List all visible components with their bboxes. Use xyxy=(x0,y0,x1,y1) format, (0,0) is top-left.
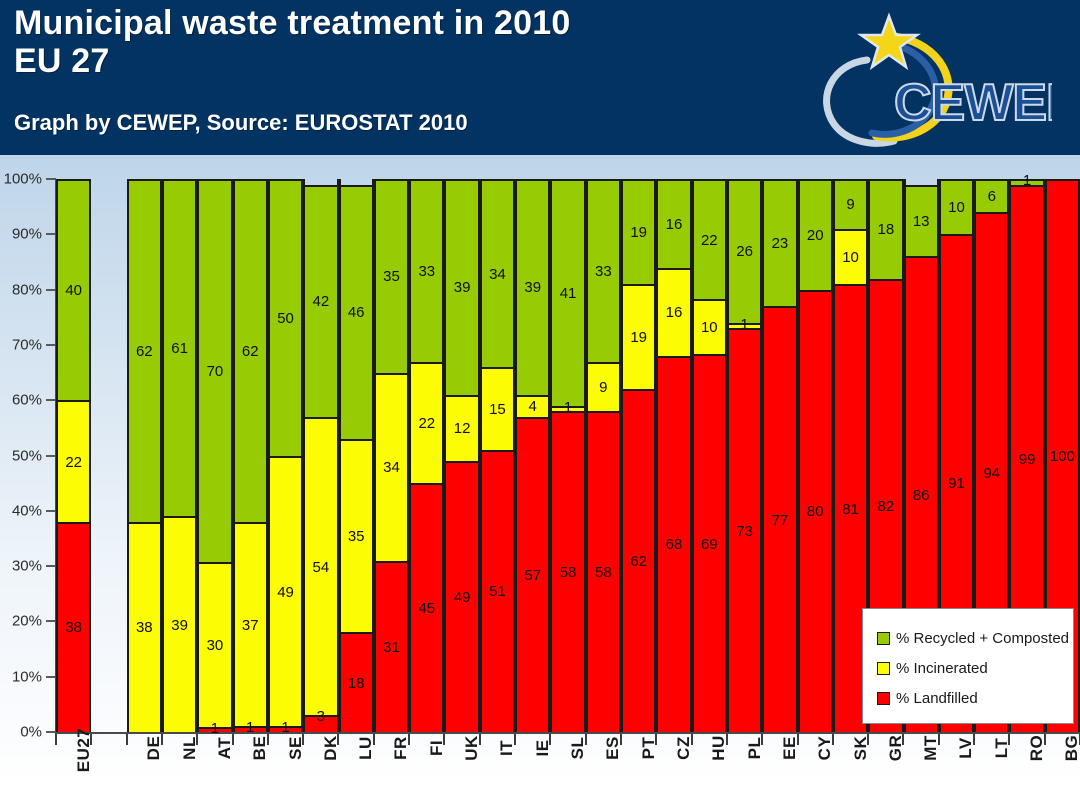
bar-value-label: 50 xyxy=(277,311,294,326)
bar-value-label: 91 xyxy=(948,476,965,491)
bar-value-label: 22 xyxy=(65,455,82,470)
bar-ES: 33958 xyxy=(586,179,621,732)
chart-area: 0%10%20%30%40%50%60%70%80%90%100% 402238… xyxy=(0,155,1080,784)
svg-text:CEWEP: CEWEP xyxy=(894,74,1052,132)
bar-segment-landfilled: 31 xyxy=(376,561,407,732)
y-axis-tick-label: 40% xyxy=(12,502,42,519)
bar-segment-landfilled: 18 xyxy=(341,632,372,732)
bar-segment-landfilled: 73 xyxy=(729,328,760,732)
bar-segment-incinerated: 19 xyxy=(623,284,654,389)
bar-segment-incinerated: 9 xyxy=(588,362,619,412)
bar-value-label: 22 xyxy=(418,416,435,431)
bar-value-label: 68 xyxy=(666,537,683,552)
bar-segment-landfilled: 80 xyxy=(800,290,831,732)
page-title: Municipal waste treatment in 2010 EU 27 xyxy=(14,4,570,80)
bar-value-label: 34 xyxy=(489,267,506,282)
bar-value-label: 19 xyxy=(630,330,647,345)
x-axis-label-FR: FR xyxy=(374,746,409,806)
bar-value-label: 99 xyxy=(1019,452,1036,467)
bar-value-label: 18 xyxy=(878,222,895,237)
bar-segment-recycled: 46 xyxy=(341,185,372,439)
x-axis-label-CZ: CZ xyxy=(656,746,691,806)
bar-value-label: 33 xyxy=(595,264,612,279)
bar-segment-recycled: 23 xyxy=(764,179,795,306)
bar-BE: 62371 xyxy=(233,179,268,732)
bar-value-label: 51 xyxy=(489,584,506,599)
bar-value-label: 39 xyxy=(171,618,188,633)
y-axis-tick-label: 30% xyxy=(12,558,42,575)
bar-value-label: 15 xyxy=(489,402,506,417)
bar-PL: 26173 xyxy=(727,179,762,732)
bar-value-label: 10 xyxy=(842,250,859,265)
stacked-bar: 463518 xyxy=(339,179,374,732)
bar-value-label: 9 xyxy=(599,380,607,395)
stacked-bar: 62371 xyxy=(233,179,268,732)
bar-segment-recycled: 70 xyxy=(199,179,230,562)
x-axis-label-EE: EE xyxy=(762,746,797,806)
legend-swatch-incinerated-icon xyxy=(877,662,890,675)
stacked-bar: 70301 xyxy=(197,179,232,732)
bar-segment-recycled: 35 xyxy=(376,179,407,373)
x-axis-label-DK: DK xyxy=(303,746,338,806)
bar-segment-incinerated: 22 xyxy=(411,362,442,484)
bar-segment-recycled: 10 xyxy=(941,179,972,234)
bar-EE: 23077 xyxy=(762,179,797,732)
bar-FR: 353431 xyxy=(374,179,409,732)
bar-segment-recycled: 9 xyxy=(835,179,866,229)
x-axis-labels: EU27DENLATBESEDKLUFRFIUKITIESLESPTCZHUPL… xyxy=(56,746,1080,806)
x-axis-label-UK: UK xyxy=(444,746,479,806)
bar-value-label: 39 xyxy=(524,280,541,295)
bar-segment-recycled: 42 xyxy=(305,185,336,417)
bar-value-label: 62 xyxy=(242,344,259,359)
bar-value-label: 22 xyxy=(701,233,718,248)
stacked-bar: 402238 xyxy=(56,179,91,732)
bar-value-label: 80 xyxy=(807,504,824,519)
x-axis-tick-mark xyxy=(126,734,128,745)
bar-segment-incinerated: 35 xyxy=(341,439,372,633)
bar-segment-recycled: 19 xyxy=(623,179,654,284)
stacked-bar: 33958 xyxy=(586,179,621,732)
y-axis-tick-label: 90% xyxy=(12,226,42,243)
bar-segment-incinerated: 34 xyxy=(376,373,407,561)
bar-AT: 70301 xyxy=(197,179,232,732)
bar-value-label: 16 xyxy=(666,217,683,232)
x-axis-label-PL: PL xyxy=(727,746,762,806)
bar-segment-landfilled: 68 xyxy=(658,356,689,732)
bar-value-label: 81 xyxy=(842,502,859,517)
y-axis-tick-label: 70% xyxy=(12,336,42,353)
y-axis-tick-label: 50% xyxy=(12,447,42,464)
bar-segment-recycled: 61 xyxy=(164,179,195,516)
bar-segment-recycled: 18 xyxy=(870,179,901,279)
bar-HU: 221069 xyxy=(692,179,727,732)
bar-value-label: 35 xyxy=(348,529,365,544)
bar-segment-incinerated: 49 xyxy=(270,456,301,727)
bar-slot-empty xyxy=(91,179,126,732)
x-axis-label-GR: GR xyxy=(868,746,903,806)
x-axis-label-AT: AT xyxy=(197,746,232,806)
bar-value-label: 49 xyxy=(454,590,471,605)
bar-value-label: 6 xyxy=(988,189,996,204)
bar-NL: 61390 xyxy=(162,179,197,732)
bar-value-label: 77 xyxy=(772,513,789,528)
bar-segment-landfilled: 1 xyxy=(199,727,230,732)
bar-segment-landfilled: 49 xyxy=(446,461,477,732)
bar-value-label: 34 xyxy=(383,460,400,475)
bar-value-label: 33 xyxy=(418,264,435,279)
x-axis-label-BE: BE xyxy=(233,746,268,806)
bar-value-label: 82 xyxy=(878,499,895,514)
slide-header: Municipal waste treatment in 2010 EU 27 … xyxy=(0,0,1080,155)
bar-segment-landfilled: 77 xyxy=(764,306,795,732)
x-axis-label-NL: NL xyxy=(162,746,197,806)
bar-segment-landfilled: 51 xyxy=(482,450,513,732)
x-axis-label-EU27: EU27 xyxy=(56,746,91,806)
bar-LU: 463518 xyxy=(339,179,374,732)
bar-value-label: 20 xyxy=(807,228,824,243)
stacked-bar: 23077 xyxy=(762,179,797,732)
bar-segment-incinerated: 12 xyxy=(446,395,477,461)
bar-value-label: 40 xyxy=(65,283,82,298)
bar-value-label: 18 xyxy=(348,676,365,691)
bar-PT: 191962 xyxy=(621,179,656,732)
x-axis-label-SE: SE xyxy=(268,746,303,806)
bar-value-label: 70 xyxy=(207,364,224,379)
bar-segment-incinerated: 37 xyxy=(235,522,266,727)
x-axis-label-MT: MT xyxy=(904,746,939,806)
bar-segment-incinerated: 54 xyxy=(305,417,336,716)
bar-segment-landfilled: 58 xyxy=(588,411,619,732)
stacked-bar: 50491 xyxy=(268,179,303,732)
bar-segment-incinerated: 16 xyxy=(658,268,689,356)
bar-value-label: 19 xyxy=(630,225,647,240)
bar-value-label: 35 xyxy=(383,269,400,284)
stacked-bar: 391249 xyxy=(444,179,479,732)
bar-segment-recycled: 26 xyxy=(729,179,760,323)
bar-value-label: 37 xyxy=(242,618,259,633)
bar-segment-recycled: 33 xyxy=(588,179,619,361)
bar-DK: 42543 xyxy=(303,179,338,732)
y-axis-tick-label: 60% xyxy=(12,392,42,409)
bar-value-label: 61 xyxy=(171,341,188,356)
x-axis-tick-mark xyxy=(55,734,57,745)
bar-FI: 332245 xyxy=(409,179,444,732)
bar-segment-recycled: 13 xyxy=(906,185,937,257)
x-axis-label-BG: BG xyxy=(1045,746,1080,806)
bar-CY: 20080 xyxy=(798,179,833,732)
bar-segment-incinerated: 38 xyxy=(129,522,160,732)
bar-value-label: 38 xyxy=(136,620,153,635)
x-axis-label-LV: LV xyxy=(939,746,974,806)
bar-segment-incinerated: 22 xyxy=(58,400,89,522)
x-axis-label-RO: RO xyxy=(1009,746,1044,806)
bar-value-label: 58 xyxy=(560,565,577,580)
cewep-logo: CEWEP xyxy=(772,2,1052,152)
bar-value-label: 16 xyxy=(666,305,683,320)
bar-segment-landfilled: 57 xyxy=(517,417,548,732)
x-axis-label-PT: PT xyxy=(621,746,656,806)
bar-segment-recycled: 41 xyxy=(552,179,583,406)
x-axis-label-ES: ES xyxy=(586,746,621,806)
bar-segment-recycled: 6 xyxy=(976,179,1007,212)
x-axis-label-CY: CY xyxy=(798,746,833,806)
legend-item-landfilled: % Landfilled xyxy=(877,690,1057,707)
y-axis-tick-label: 100% xyxy=(4,171,42,188)
x-axis-label-empty xyxy=(91,746,126,806)
stacked-bar: 20080 xyxy=(798,179,833,732)
legend-label-incinerated: % Incinerated xyxy=(896,660,988,677)
x-axis-label-IT: IT xyxy=(480,746,515,806)
stacked-bar: 42543 xyxy=(303,179,338,732)
stacked-bar: 26173 xyxy=(727,179,762,732)
stacked-bar: 221069 xyxy=(692,179,727,732)
bar-value-label: 13 xyxy=(913,214,930,229)
x-axis-label-IE: IE xyxy=(515,746,550,806)
bar-value-label: 12 xyxy=(454,421,471,436)
bar-value-label: 9 xyxy=(846,197,854,212)
bar-value-label: 26 xyxy=(736,244,753,259)
x-axis-label-LT: LT xyxy=(974,746,1009,806)
chart-legend: % Recycled + Composted % Incinerated % L… xyxy=(862,608,1074,724)
page-subtitle: Graph by CEWEP, Source: EUROSTAT 2010 xyxy=(14,110,468,136)
stacked-bar: 62380 xyxy=(127,179,162,732)
bar-segment-landfilled: 62 xyxy=(623,389,654,732)
legend-swatch-recycled-icon xyxy=(877,632,890,645)
bar-segment-recycled: 33 xyxy=(411,179,442,361)
stacked-bar: 353431 xyxy=(374,179,409,732)
legend-item-incinerated: % Incinerated xyxy=(877,660,1057,677)
bar-segment-incinerated: 4 xyxy=(517,395,548,417)
bar-segment-landfilled: 1 xyxy=(270,726,301,732)
bar-value-label: 45 xyxy=(418,601,435,616)
bar-segment-recycled: 34 xyxy=(482,179,513,367)
bar-segment-incinerated: 30 xyxy=(199,562,230,726)
stacked-bar: 332245 xyxy=(409,179,444,732)
bar-value-label: 41 xyxy=(560,286,577,301)
bar-SL: 41158 xyxy=(550,179,585,732)
bar-segment-recycled: 50 xyxy=(270,179,301,456)
y-axis-tick-label: 0% xyxy=(20,724,42,741)
x-axis-label-HU: HU xyxy=(692,746,727,806)
stacked-bar: 41158 xyxy=(550,179,585,732)
bar-value-label: 38 xyxy=(65,620,82,635)
bar-value-label: 10 xyxy=(701,320,718,335)
bar-value-label: 58 xyxy=(595,565,612,580)
bar-value-label: 31 xyxy=(383,640,400,655)
bar-value-label: 100 xyxy=(1050,449,1075,464)
stacked-bar: 61390 xyxy=(162,179,197,732)
stacked-bar: 341551 xyxy=(480,179,515,732)
slide-root: Municipal waste treatment in 2010 EU 27 … xyxy=(0,0,1080,784)
bar-segment-landfilled: 3 xyxy=(305,715,336,732)
bar-segment-landfilled: 1 xyxy=(235,726,266,732)
x-axis-label-LU: LU xyxy=(339,746,374,806)
bar-value-label: 4 xyxy=(529,399,537,414)
bar-value-label: 10 xyxy=(948,200,965,215)
bar-value-label: 30 xyxy=(207,638,224,653)
y-axis: 0%10%20%30%40%50%60%70%80%90%100% xyxy=(0,179,56,732)
bar-segment-landfilled: 45 xyxy=(411,483,442,732)
bar-value-label: 49 xyxy=(277,585,294,600)
bar-value-label: 46 xyxy=(348,305,365,320)
bar-IT: 341551 xyxy=(480,179,515,732)
bar-segment-incinerated: 10 xyxy=(835,229,866,284)
bar-value-label: 62 xyxy=(630,554,647,569)
bar-segment-landfilled: 69 xyxy=(694,354,725,732)
x-axis-label-DE: DE xyxy=(127,746,162,806)
bar-segment-incinerated: 10 xyxy=(694,299,725,354)
legend-label-landfilled: % Landfilled xyxy=(896,690,978,707)
bar-segment-incinerated: 39 xyxy=(164,516,195,732)
y-axis-tick-label: 20% xyxy=(12,613,42,630)
x-axis-label-SK: SK xyxy=(833,746,868,806)
bar-value-label: 54 xyxy=(313,560,330,575)
bar-CZ: 161668 xyxy=(656,179,691,732)
stacked-bar: 191962 xyxy=(621,179,656,732)
bar-value-label: 57 xyxy=(524,568,541,583)
stacked-bar: 39457 xyxy=(515,179,550,732)
bar-segment-recycled: 62 xyxy=(235,179,266,522)
bar-UK: 391249 xyxy=(444,179,479,732)
bar-value-label: 94 xyxy=(983,466,1000,481)
y-axis-tick-label: 80% xyxy=(12,281,42,298)
x-axis-label-SL: SL xyxy=(550,746,585,806)
bar-EU27: 402238 xyxy=(56,179,91,732)
bar-segment-incinerated: 15 xyxy=(482,367,513,450)
bar-value-label: 42 xyxy=(313,294,330,309)
bar-segment-recycled: 39 xyxy=(446,179,477,395)
stacked-bar: 161668 xyxy=(656,179,691,732)
bar-segment-recycled: 40 xyxy=(58,179,89,400)
bar-DE: 62380 xyxy=(127,179,162,732)
bar-segment-recycled: 20 xyxy=(800,179,831,290)
stacked-bar xyxy=(91,179,126,732)
bar-value-label: 73 xyxy=(736,524,753,539)
bar-segment-landfilled: 38 xyxy=(58,522,89,732)
bar-value-label: 62 xyxy=(136,344,153,359)
bar-value-label: 39 xyxy=(454,280,471,295)
legend-swatch-landfilled-icon xyxy=(877,692,890,705)
bar-IE: 39457 xyxy=(515,179,550,732)
legend-item-recycled: % Recycled + Composted xyxy=(877,630,1057,647)
bar-segment-landfilled: 58 xyxy=(552,411,583,732)
bar-value-label: 23 xyxy=(772,236,789,251)
bar-value-label: 69 xyxy=(701,537,718,552)
bar-segment-recycled: 62 xyxy=(129,179,160,522)
bar-segment-recycled: 22 xyxy=(694,179,725,299)
x-axis-label-FI: FI xyxy=(409,746,444,806)
bar-segment-recycled: 39 xyxy=(517,179,548,395)
bar-value-label: 86 xyxy=(913,488,930,503)
legend-label-recycled: % Recycled + Composted xyxy=(896,630,1069,647)
y-axis-tick-label: 10% xyxy=(12,668,42,685)
bar-SE: 50491 xyxy=(268,179,303,732)
bar-segment-recycled: 16 xyxy=(658,179,689,267)
